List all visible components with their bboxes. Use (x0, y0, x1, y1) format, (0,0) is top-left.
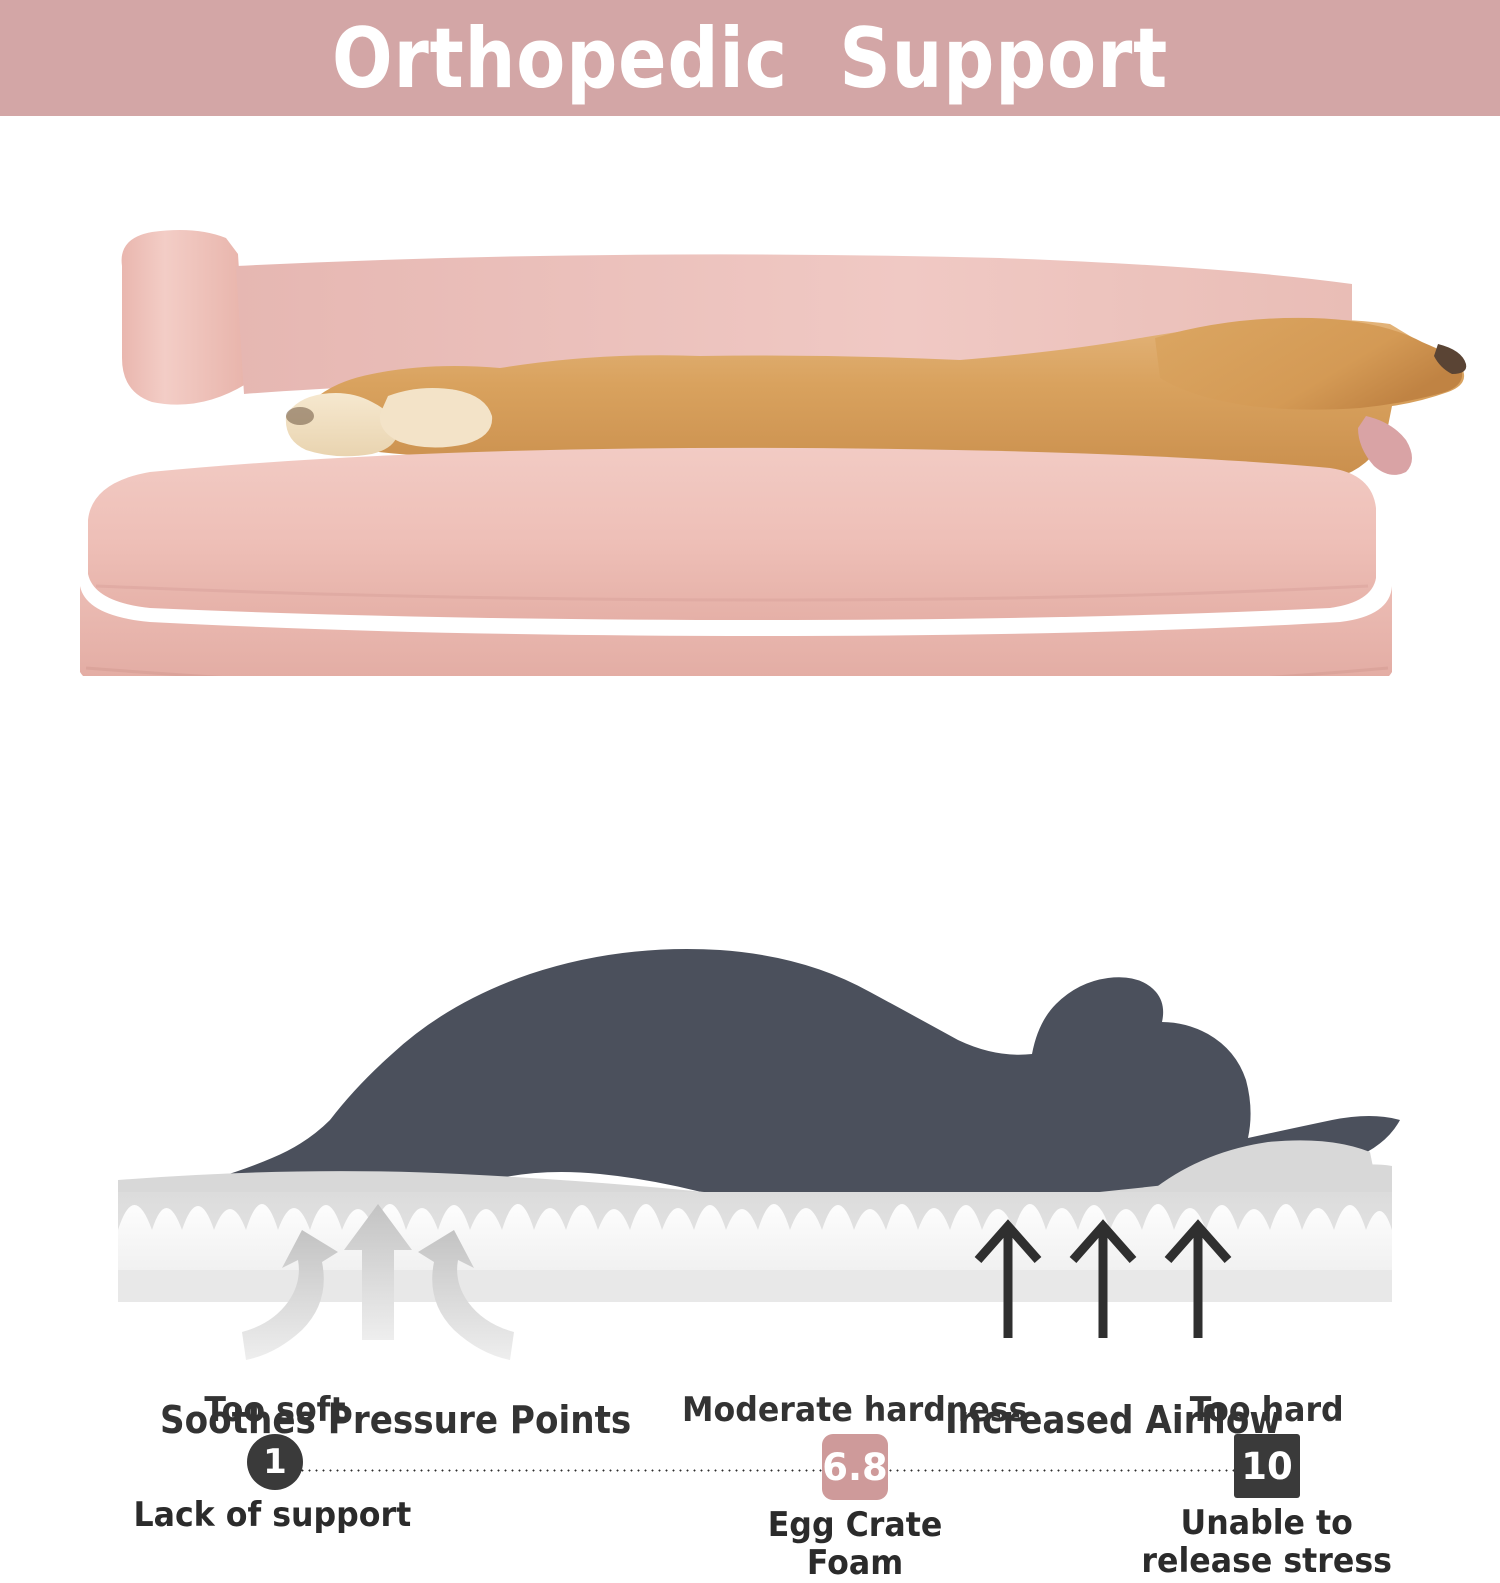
foam-illustration-svg (0, 930, 1500, 1390)
foam-illustration (0, 930, 1500, 1380)
dog-paw-second (380, 388, 492, 448)
caption-soothes-pressure-points: Soothes Pressure Points (160, 1398, 631, 1442)
scale-bottom-label-lack-of-support: Lack of support (133, 1496, 411, 1534)
scale-badge-1: 1 (247, 1434, 303, 1490)
dog-toe-shadow (286, 407, 314, 425)
hardness-scale: Too soft 1 Lack of support Moderate hard… (0, 690, 1500, 920)
bed-bolster (122, 230, 246, 405)
scale-bottom-label-egg-crate-foam: Egg Crate Foam (716, 1506, 995, 1582)
product-photo-svg (0, 116, 1500, 676)
product-photo (0, 116, 1500, 676)
page-title: Orthopedic Support (332, 17, 1168, 100)
scale-badge-6-8: 6.8 (822, 1434, 888, 1500)
scale-bottom-label-unable-to-release-stress: Unable to release stress (1142, 1504, 1393, 1580)
dog-tongue (1358, 416, 1412, 475)
header-banner: Orthopedic Support (0, 0, 1500, 116)
caption-increased-airflow: Increased Airflow (945, 1398, 1281, 1442)
scale-badge-10: 10 (1234, 1434, 1300, 1498)
